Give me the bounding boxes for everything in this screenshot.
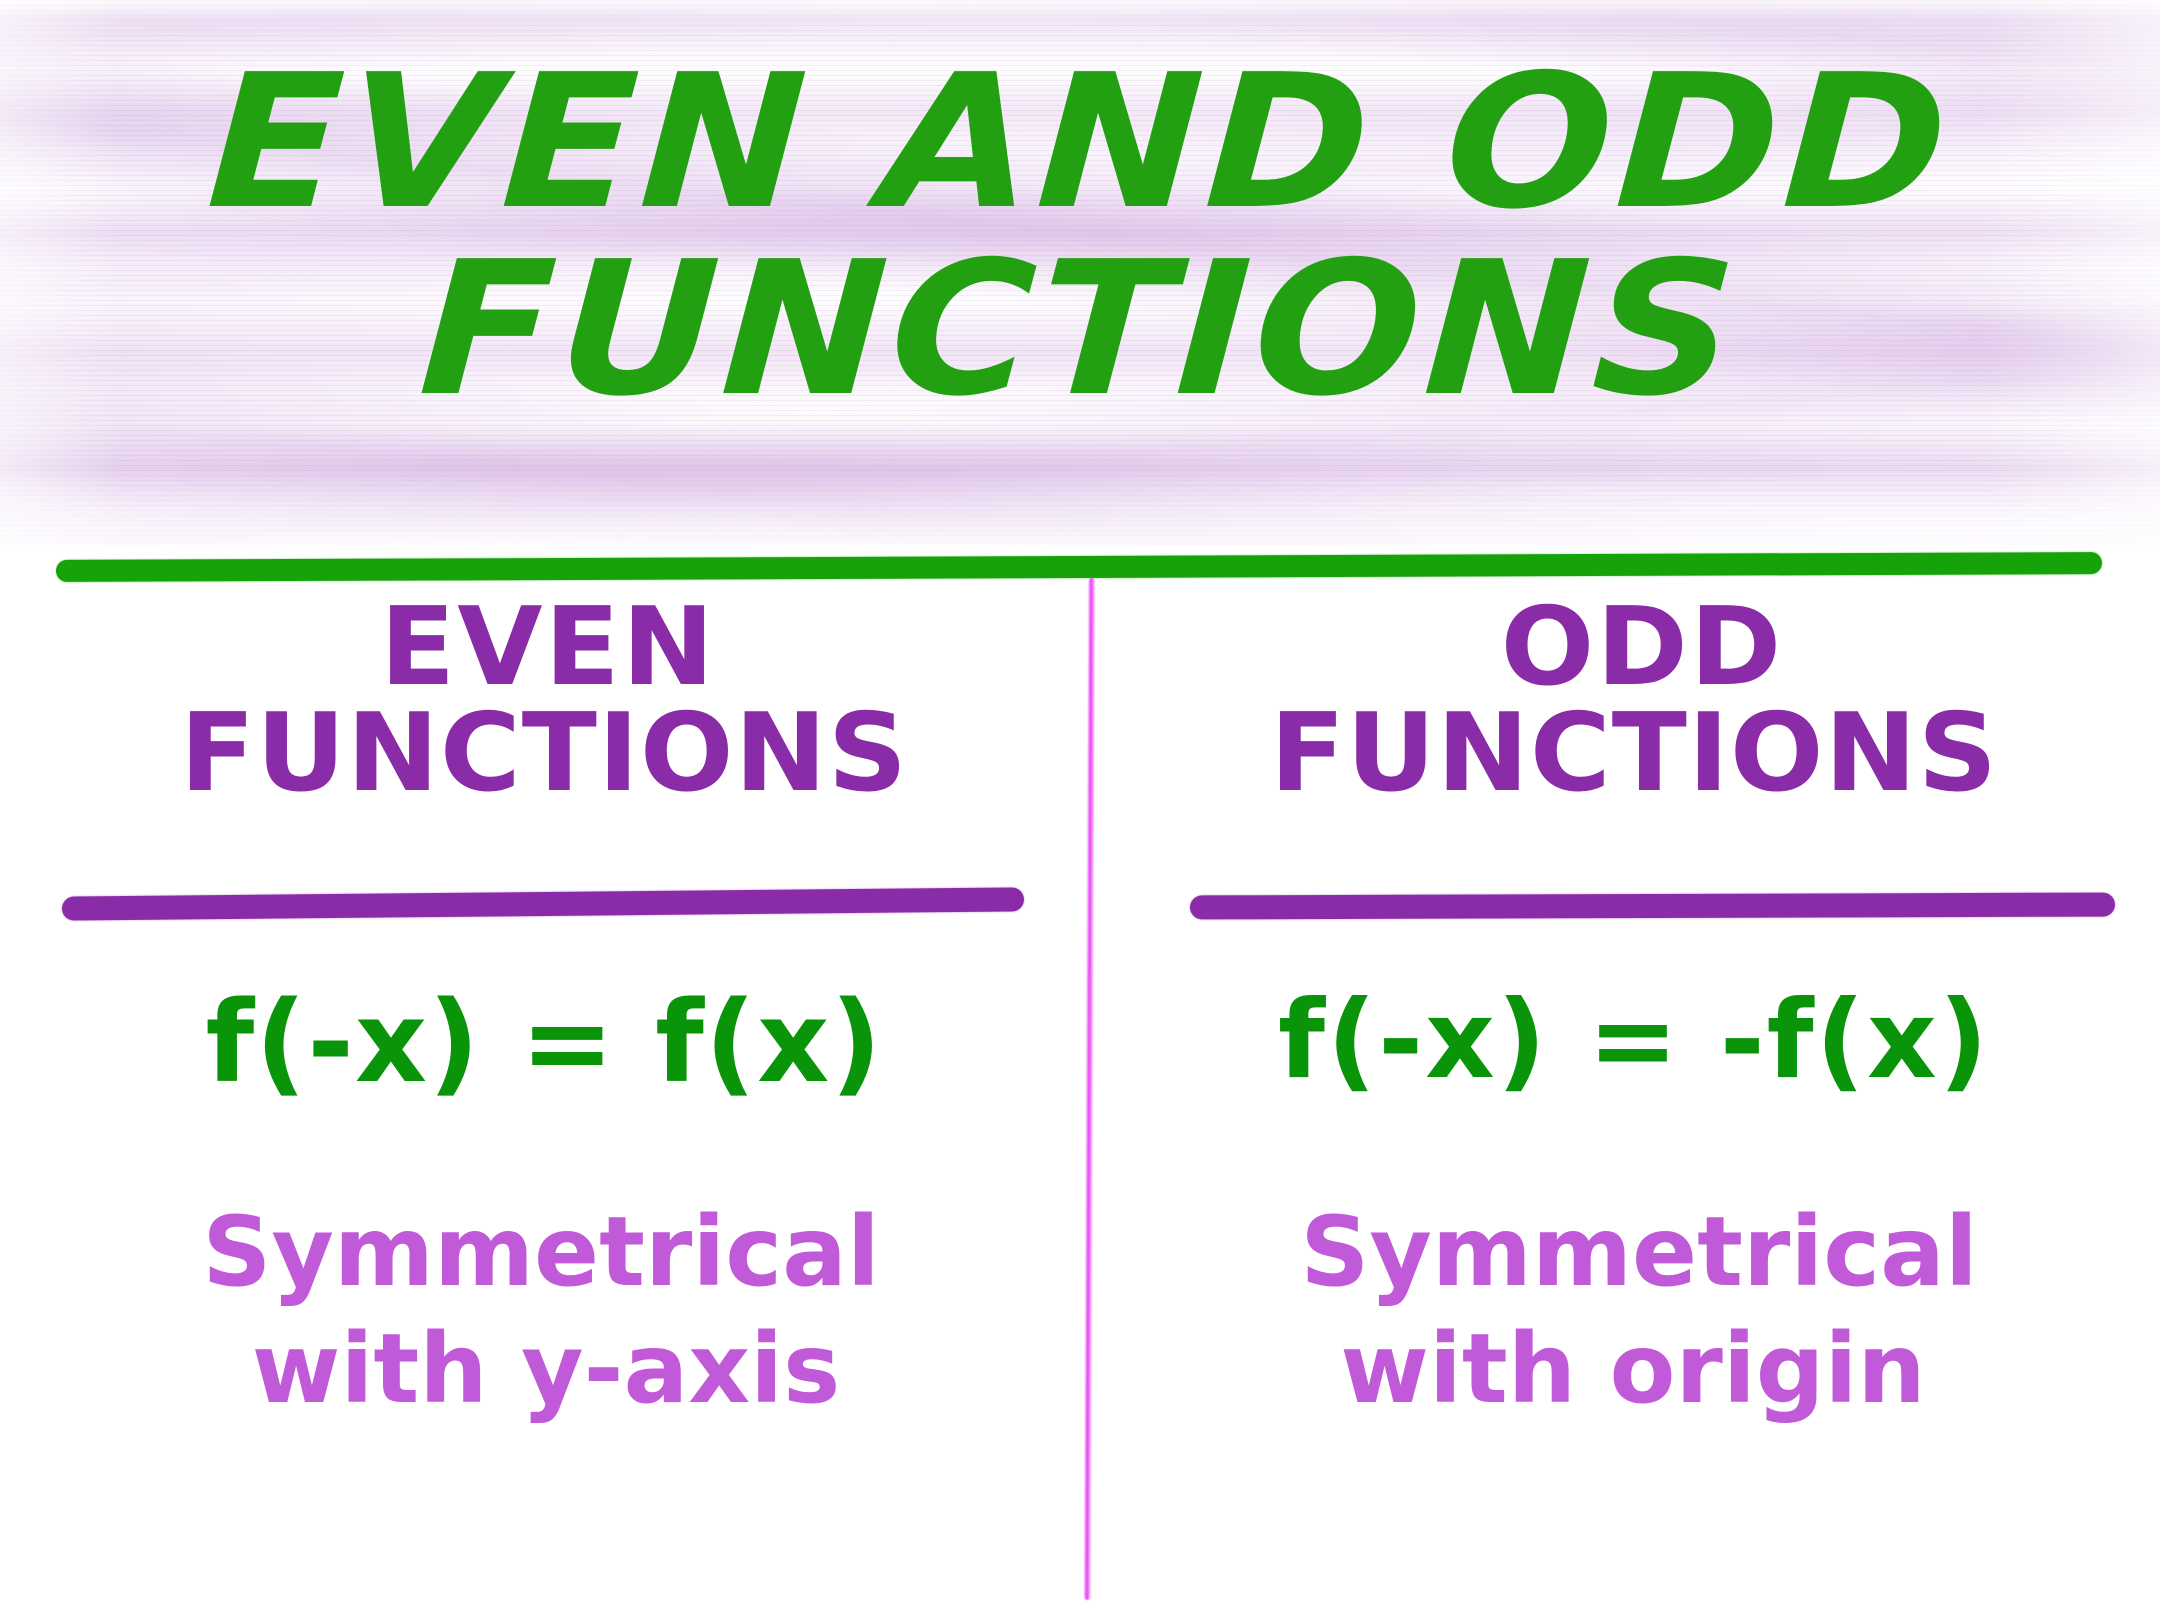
odd-description: Symmetrical with origin [1104, 1194, 2160, 1428]
odd-description-line-2: with origin [1102, 1311, 2160, 1428]
poster-title: EVEN AND ODD FUNCTIONS [0, 52, 2160, 421]
green-horizontal-divider [56, 552, 2102, 582]
even-description-line-2: with y-axis [18, 1311, 1074, 1428]
title-line-1: EVEN AND ODD [0, 52, 2160, 233]
even-description: Symmetrical with y-axis [14, 1194, 1074, 1428]
odd-heading-underline [1190, 893, 2115, 920]
odd-description-line-1: Symmetrical [1114, 1194, 2160, 1311]
odd-column-heading: ODD FUNCTIONS [1104, 596, 2160, 805]
even-heading-word-2: FUNCTIONS [3, 702, 1084, 806]
even-description-line-1: Symmetrical [8, 1194, 1074, 1311]
even-function-formula: f(-x) = f(x) [14, 978, 1074, 1108]
column-odd-functions: ODD FUNCTIONS f(-x) = -f(x) Symmetrical … [1104, 596, 2160, 1606]
column-even-functions: EVEN FUNCTIONS f(-x) = f(x) Symmetrical … [14, 596, 1074, 1606]
odd-heading-word-2: FUNCTIONS [1093, 702, 2160, 806]
even-heading-word-1: EVEN [11, 596, 1084, 700]
title-line-2: FUNCTIONS [0, 239, 2160, 420]
poster-canvas: EVEN AND ODD FUNCTIONS EVEN FUNCTIONS f(… [0, 0, 2160, 1620]
even-column-heading: EVEN FUNCTIONS [14, 596, 1074, 805]
even-heading-underline [62, 887, 1024, 920]
odd-function-formula: f(-x) = -f(x) [1104, 978, 2160, 1103]
odd-heading-word-1: ODD [1110, 596, 2160, 700]
